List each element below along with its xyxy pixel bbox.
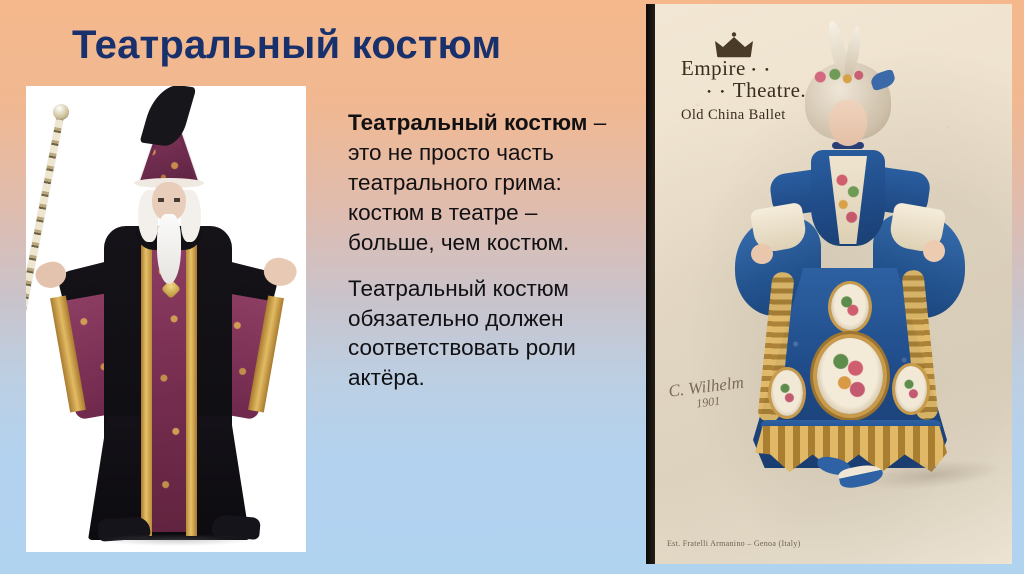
body-text: Театральный костюм – это не просто часть…: [348, 108, 616, 409]
white-beard: [157, 214, 181, 284]
poster-dark-edge: [646, 4, 655, 564]
ballet-face: [829, 100, 867, 146]
page-title: Театральный костюм: [72, 24, 592, 66]
paragraph-2: Театральный костюм обязательно должен со…: [348, 274, 616, 394]
gold-trim-right: [186, 236, 197, 536]
ballet-costume-figure: [713, 22, 973, 522]
floral-motif-right: [901, 372, 921, 406]
poster-paper: Empire • • • • Theatre. Old China Ballet: [655, 4, 1012, 564]
floor-shadow: [96, 534, 256, 546]
paragraph-1-lead: Театральный костюм: [348, 110, 587, 135]
bodice-floral-trim: [833, 172, 863, 230]
cartouche-top: [831, 284, 869, 330]
wizard-figure: [26, 86, 306, 552]
slide-root: Театральный костюм: [0, 0, 1024, 574]
floral-motif-top: [838, 291, 862, 323]
ballet-hand-left: [751, 244, 773, 264]
eyes-icon: [158, 198, 180, 202]
actor-photo-inner: [26, 86, 306, 552]
paragraph-1: Театральный костюм – это не просто часть…: [348, 108, 616, 258]
gold-trim-left: [141, 236, 152, 536]
poster-image: Empire • • • • Theatre. Old China Ballet: [646, 0, 1012, 574]
floral-motif-left: [777, 376, 797, 410]
floral-motif-center: [827, 348, 873, 404]
cartouche-center: [817, 338, 883, 414]
hair-flowers: [813, 66, 865, 88]
poster-credit: Est. Fratelli Armanino – Genoa (Italy): [667, 539, 801, 548]
ballet-hand-right: [923, 240, 945, 262]
cartouche-right: [895, 366, 927, 412]
actor-photo: [26, 86, 306, 552]
